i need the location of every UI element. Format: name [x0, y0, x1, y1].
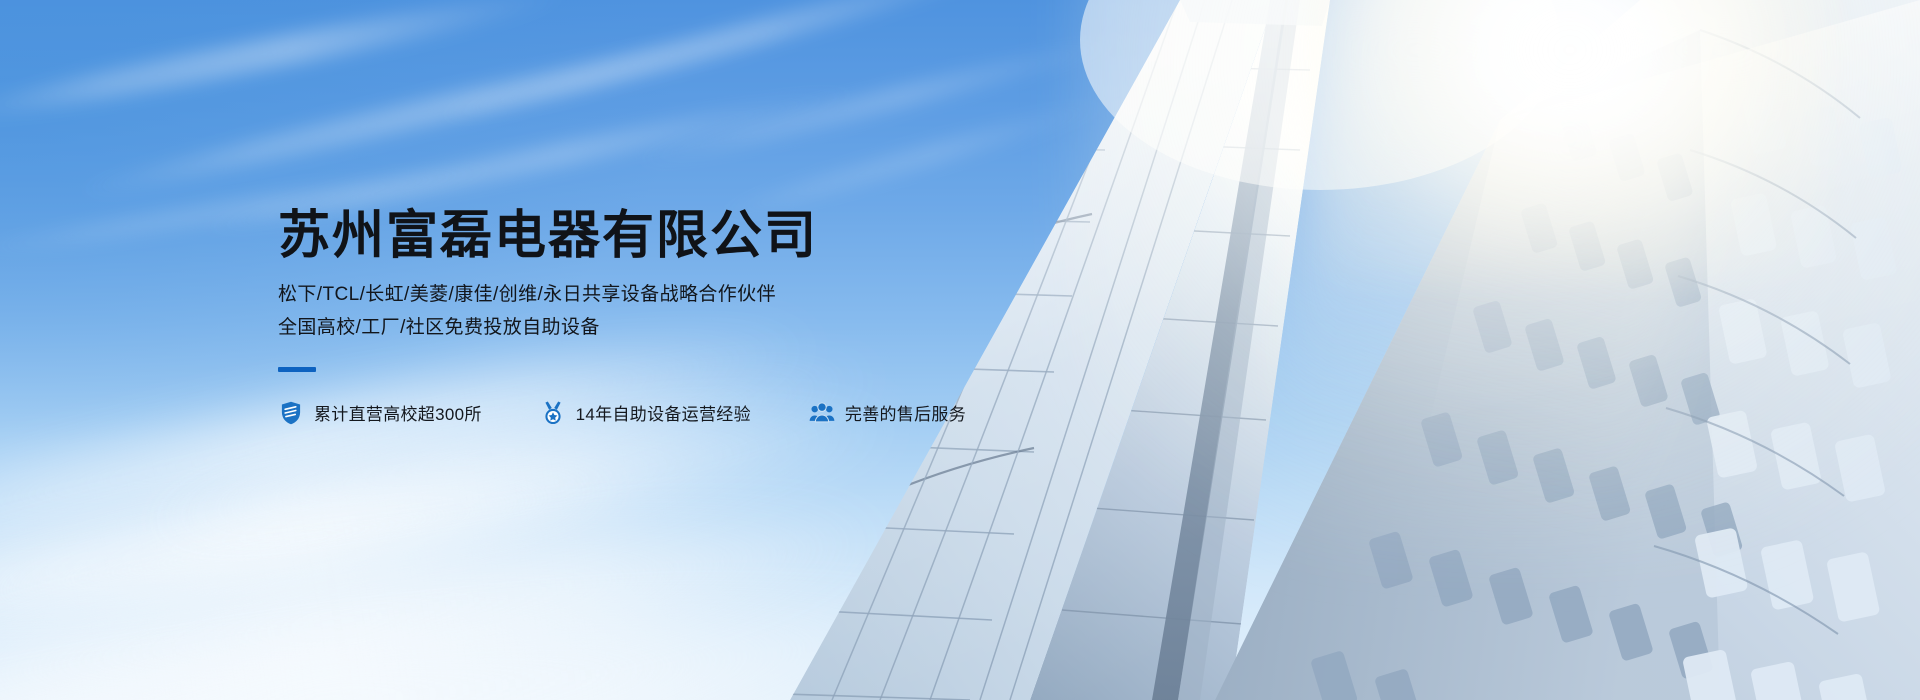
shield-icon	[278, 400, 304, 426]
medal-icon	[540, 400, 566, 426]
feature-badge-label: 完善的售后服务	[845, 400, 966, 425]
accent-divider	[278, 367, 316, 372]
subtitle-line-2: 全国高校/工厂/社区免费投放自助设备	[278, 312, 1038, 345]
feature-badge-label: 累计直营高校超300所	[314, 400, 482, 425]
hero-banner: 苏州富磊电器有限公司 松下/TCL/长虹/美菱/康佳/创维/永日共享设备战略合作…	[0, 0, 1920, 700]
feature-badge-service: 完善的售后服务	[809, 400, 966, 426]
banner-content: 苏州富磊电器有限公司 松下/TCL/长虹/美菱/康佳/创维/永日共享设备战略合作…	[278, 206, 1038, 426]
company-headline: 苏州富磊电器有限公司	[278, 206, 1038, 267]
feature-badge-experience: 14年自助设备运营经验	[540, 400, 751, 426]
feature-badge-universities: 累计直营高校超300所	[278, 400, 482, 426]
feature-badge-label: 14年自助设备运营经验	[576, 400, 751, 425]
people-icon	[809, 400, 835, 426]
subtitle-line-1: 松下/TCL/长虹/美菱/康佳/创维/永日共享设备战略合作伙伴	[278, 279, 1038, 312]
feature-badge-list: 累计直营高校超300所 14年自助设备运营经验	[278, 400, 1038, 426]
